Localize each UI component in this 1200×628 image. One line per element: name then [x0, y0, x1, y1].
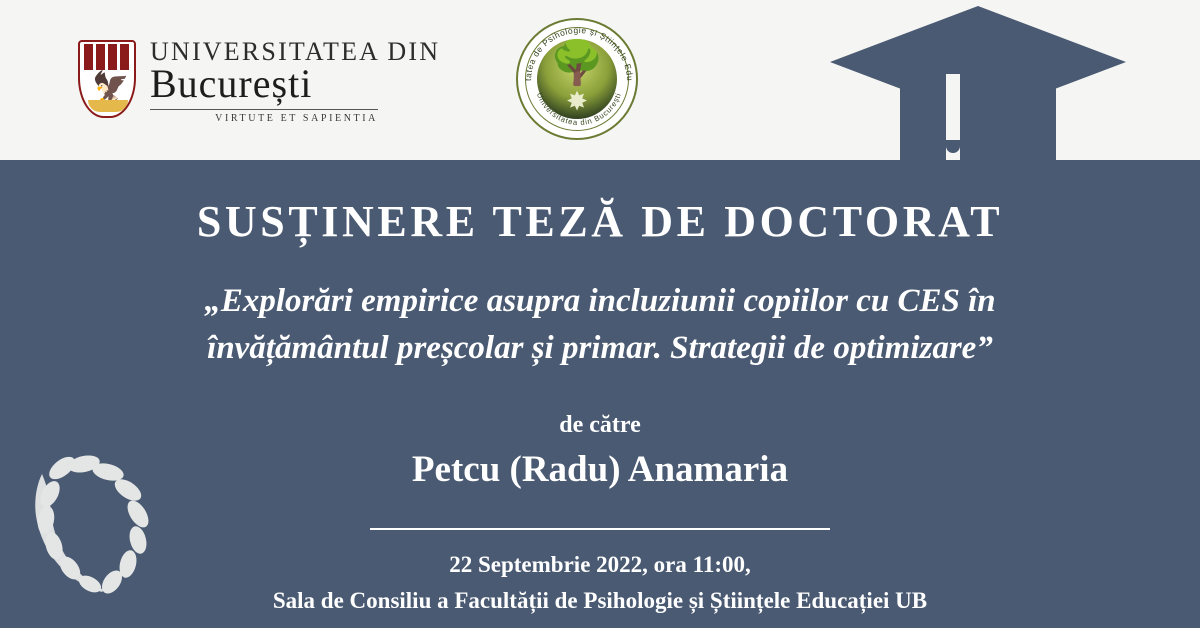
university-logo-line2: București	[150, 63, 440, 105]
event-venue: Sala de Consiliu a Facultății de Psiholo…	[0, 588, 1200, 614]
poster-body: SUSȚINERE TEZĂ DE DOCTORAT „Explorări em…	[0, 160, 1200, 628]
university-logo-motto: VIRTUTE ET SAPIENTIA	[150, 113, 378, 124]
faculty-seal-bottom-text: Universitatea din București	[535, 91, 623, 127]
event-datetime: 22 Septembrie 2022, ora 11:00,	[0, 552, 1200, 578]
faculty-seal-top-text: Facultatea de Psihologie și Științele Ed…	[518, 20, 635, 81]
by-label: de către	[0, 412, 1200, 439]
header-band: 🦅 UNIVERSITATEA DIN București VIRTUTE ET…	[0, 0, 1200, 160]
thesis-title-line1: „Explorări empirice asupra incluziunii c…	[50, 278, 1150, 325]
divider	[370, 528, 830, 530]
author-name: Petcu (Radu) Anamaria	[0, 448, 1200, 491]
thesis-title-line2: învățământul preșcolar și primar. Strate…	[50, 325, 1150, 372]
university-logo: 🦅 UNIVERSITATEA DIN București VIRTUTE ET…	[78, 36, 440, 124]
event-title: SUSȚINERE TEZĂ DE DOCTORAT	[0, 196, 1200, 247]
thesis-title: „Explorări empirice asupra incluziunii c…	[50, 278, 1150, 372]
university-logo-rule	[150, 109, 378, 110]
university-crest-icon: 🦅	[78, 40, 136, 118]
faculty-seal-icon: 🌳 ✸ Facultatea de Psihologie și Științel…	[516, 18, 638, 140]
university-logo-text: UNIVERSITATEA DIN București VIRTUTE ET S…	[150, 38, 440, 124]
graduation-cap-icon	[828, 0, 1128, 160]
poster: 🦅 UNIVERSITATEA DIN București VIRTUTE ET…	[0, 0, 1200, 628]
